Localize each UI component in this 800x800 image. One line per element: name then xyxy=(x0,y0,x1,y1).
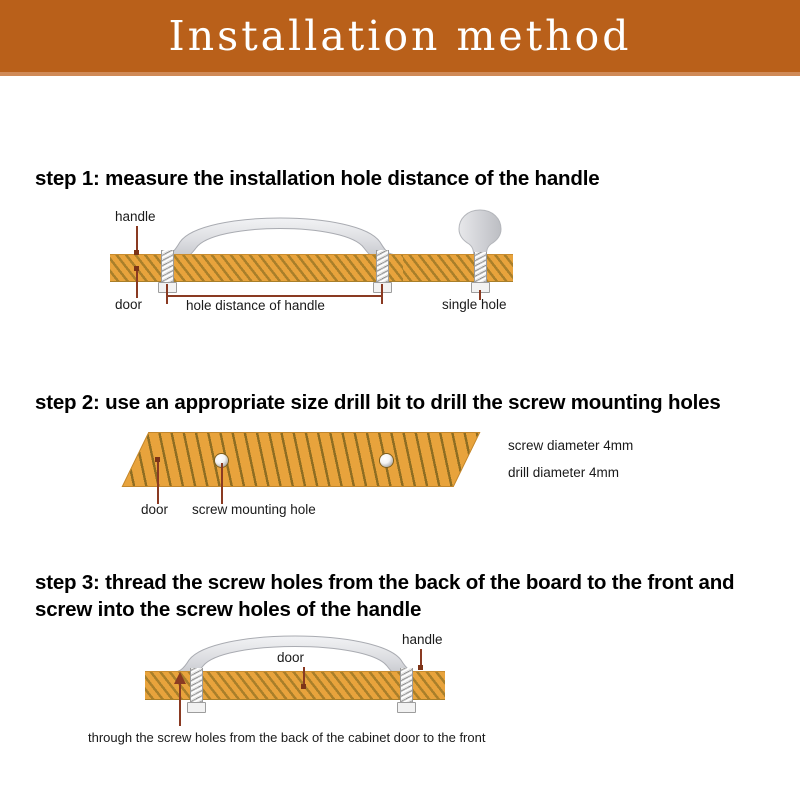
label-step3-caption: through the screw holes from the back of… xyxy=(88,730,485,745)
screw-nut xyxy=(397,702,416,713)
leader-line-caption xyxy=(179,682,181,726)
screw-thread-icon xyxy=(400,668,413,704)
label-door: door xyxy=(277,650,304,665)
leader-dot-door xyxy=(301,684,306,689)
label-handle: handle xyxy=(402,632,443,647)
up-arrow-icon xyxy=(174,672,186,684)
screw-thread-icon xyxy=(190,668,203,704)
leader-dot-handle xyxy=(418,665,423,670)
step-3-diagram: door handle through the screw holes from… xyxy=(0,0,800,800)
screw-nut xyxy=(187,702,206,713)
